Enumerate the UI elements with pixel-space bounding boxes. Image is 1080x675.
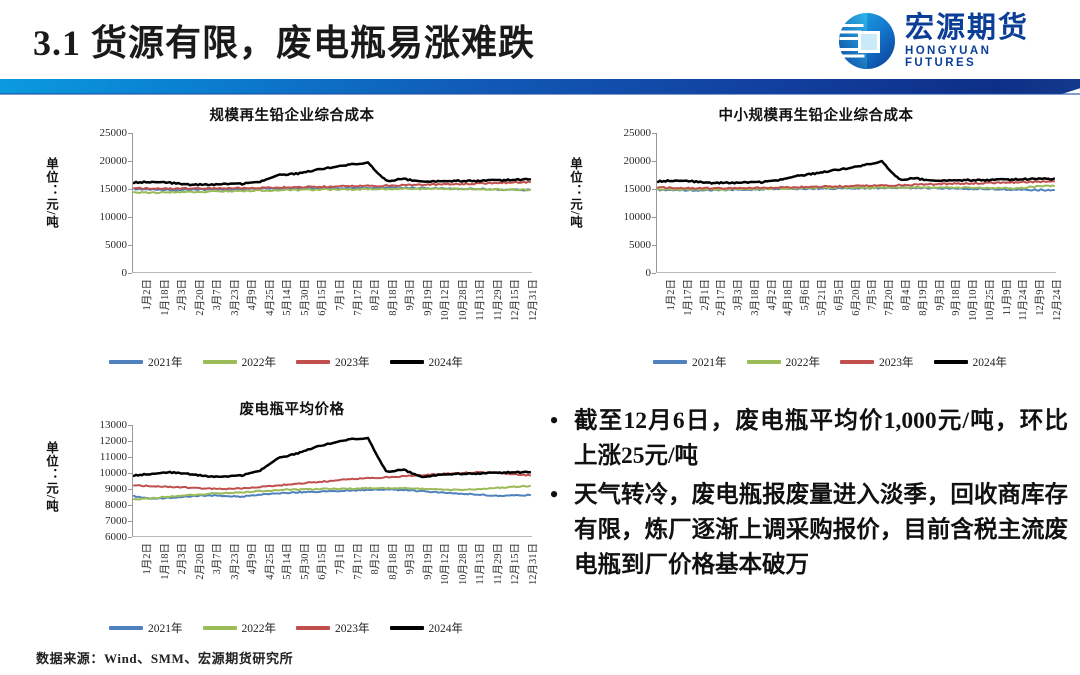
- chart-legend: 2021年2022年2023年2024年: [36, 620, 536, 636]
- bullet-dot-icon: •: [548, 404, 560, 474]
- yaxis-tick-label: 8000: [36, 499, 132, 511]
- xaxis-tick-label: 10月28日: [455, 543, 470, 585]
- legend-item[interactable]: 2024年: [934, 354, 1008, 370]
- yaxis-tick-label: 5000: [560, 239, 656, 251]
- yaxis-tick-label: 10000: [36, 467, 132, 479]
- xaxis-tick-label: 8月2日: [367, 543, 382, 575]
- logo-text: 宏源期货 HONGYUAN FUTURES: [905, 13, 1066, 69]
- xaxis-tick-label: 7月20日: [881, 279, 896, 316]
- page-title: 3.1 货源有限，废电瓶易涨难跌: [33, 14, 535, 66]
- yaxis-tick-label: 12000: [36, 435, 132, 447]
- legend-label: 2021年: [148, 620, 183, 636]
- legend-label: 2022年: [786, 354, 821, 370]
- xaxis-tick-label: 5月30日: [297, 543, 312, 580]
- chart-plot-area: [132, 133, 532, 273]
- legend-label: 2023年: [335, 354, 370, 370]
- xaxis-tick-label: 4月18日: [780, 279, 795, 316]
- legend-label: 2021年: [148, 354, 183, 370]
- yaxis-tick-label: 10000: [560, 211, 656, 223]
- yaxis-tick-label: 5000: [36, 239, 132, 251]
- chart-title: 废电瓶平均价格: [36, 398, 548, 419]
- bullet-text: 天气转冷，废电瓶报废量进入淡季，回收商库存有限，炼厂逐渐上调采购报价，目前含税主…: [574, 478, 1068, 583]
- chart-yaxis-ticks: 0500010000150002000025000: [560, 133, 656, 273]
- xaxis-tick-label: 1月2日: [139, 279, 154, 311]
- yaxis-tick-label: 20000: [560, 155, 656, 167]
- xaxis-tick-label: 3月7日: [209, 543, 224, 575]
- xaxis-tick-label: 3月3日: [730, 279, 745, 311]
- xaxis-tick-label: 4月2日: [764, 279, 779, 311]
- xaxis-tick-label: 7月1日: [332, 279, 347, 311]
- series-line-2024年: [658, 161, 1054, 184]
- yaxis-tick-label: 15000: [36, 183, 132, 195]
- yaxis-tick-label: 10000: [36, 211, 132, 223]
- xaxis-tick-label: 1月18日: [157, 543, 172, 580]
- xaxis-tick-label: 5月6日: [797, 279, 812, 311]
- xaxis-tick-label: 8月19日: [915, 279, 930, 316]
- xaxis-tick-label: 11月29日: [490, 279, 505, 321]
- logo-name-en: HONGYUAN FUTURES: [905, 45, 1066, 69]
- legend-item[interactable]: 2021年: [109, 620, 183, 636]
- legend-swatch-icon: [203, 360, 237, 363]
- yaxis-tick-label: 7000: [36, 515, 132, 527]
- xaxis-tick-label: 9月3日: [932, 279, 947, 311]
- xaxis-tick-label: 9月3日: [402, 543, 417, 575]
- yaxis-tick-label: 0: [36, 267, 132, 279]
- legend-item[interactable]: 2024年: [390, 354, 464, 370]
- bullet-text: 截至12月6日，废电瓶平均价1,000元/吨，环比上涨25元/吨: [574, 404, 1068, 474]
- yaxis-tick-label: 20000: [36, 155, 132, 167]
- xaxis-tick-label: 7月1日: [332, 543, 347, 575]
- legend-item[interactable]: 2022年: [203, 620, 277, 636]
- xaxis-tick-label: 3月7日: [209, 279, 224, 311]
- slide-header: 3.1 货源有限，废电瓶易涨难跌: [0, 0, 1080, 96]
- xaxis-tick-label: 10月28日: [455, 279, 470, 321]
- logo-name-cn: 宏源期货: [905, 13, 1066, 43]
- chart-xaxis-ticks: 1月2日1月18日2月3日2月20日3月7日3月23日4月9日4月25日5月14…: [132, 279, 532, 359]
- xaxis-tick-label: 3月18日: [747, 279, 762, 316]
- yaxis-tick-label: 13000: [36, 419, 132, 431]
- legend-item[interactable]: 2022年: [203, 354, 277, 370]
- legend-label: 2024年: [973, 354, 1008, 370]
- xaxis-tick-label: 3月23日: [227, 543, 242, 580]
- xaxis-tick-label: 2月20日: [192, 279, 207, 316]
- legend-item[interactable]: 2023年: [840, 354, 914, 370]
- series-line-2024年: [134, 438, 530, 477]
- chart-title: 规模再生铅企业综合成本: [36, 104, 548, 125]
- xaxis-tick-label: 2月3日: [174, 543, 189, 575]
- yaxis-tick-label: 15000: [560, 183, 656, 195]
- xaxis-tick-label: 9月3日: [402, 279, 417, 311]
- xaxis-tick-label: 12月31日: [525, 279, 540, 321]
- chart-legend: 2021年2022年2023年2024年: [600, 354, 1060, 370]
- xaxis-tick-label: 11月9日: [999, 279, 1014, 315]
- chart-yaxis-ticks: 0500010000150002000025000: [36, 133, 132, 273]
- xaxis-tick-label: 10月12日: [437, 279, 452, 321]
- legend-label: 2023年: [335, 620, 370, 636]
- chart-scrap-battery-average-price: 废电瓶平均价格 单位：元/吨 6000700080009000100001100…: [36, 398, 548, 655]
- series-line-2021年: [134, 489, 530, 499]
- xaxis-tick-label: 4月9日: [244, 279, 259, 311]
- yaxis-tick-label: 11000: [36, 451, 132, 463]
- xaxis-tick-label: 5月14日: [279, 543, 294, 580]
- chart-title: 中小规模再生铅企业综合成本: [560, 104, 1072, 125]
- xaxis-tick-label: 12月31日: [525, 543, 540, 585]
- chart-xaxis-ticks: 1月2日1月17日2月1日2月17日3月3日3月18日4月2日4月18日5月6日…: [656, 279, 1056, 359]
- xaxis-tick-label: 2月1日: [697, 279, 712, 311]
- xaxis-tick-label: 12月15日: [507, 279, 522, 321]
- legend-item[interactable]: 2021年: [653, 354, 727, 370]
- xaxis-tick-label: 1月2日: [663, 279, 678, 311]
- legend-swatch-icon: [747, 360, 781, 363]
- yaxis-tick-label: 25000: [560, 127, 656, 139]
- xaxis-tick-label: 3月23日: [227, 279, 242, 316]
- chart-regular-scale-recycled-lead-cost: 规模再生铅企业综合成本 单位：元/吨 050001000015000200002…: [36, 104, 548, 373]
- xaxis-tick-label: 7月5日: [864, 279, 879, 311]
- xaxis-tick-label: 5月14日: [279, 279, 294, 316]
- yaxis-tick-label: 6000: [36, 531, 132, 543]
- legend-item[interactable]: 2024年: [390, 620, 464, 636]
- header-accent-bar: [0, 79, 1080, 94]
- xaxis-tick-label: 10月10日: [965, 279, 980, 321]
- legend-item[interactable]: 2021年: [109, 354, 183, 370]
- list-item: • 天气转冷，废电瓶报废量进入淡季，回收商库存有限，炼厂逐渐上调采购报价，目前含…: [548, 478, 1068, 583]
- chart-plot-area: [656, 133, 1056, 273]
- legend-swatch-icon: [296, 626, 330, 629]
- xaxis-tick-label: 2月17日: [713, 279, 728, 316]
- xaxis-tick-label: 5月30日: [297, 279, 312, 316]
- legend-label: 2024年: [429, 354, 464, 370]
- legend-label: 2024年: [429, 620, 464, 636]
- xaxis-tick-label: 2月3日: [174, 279, 189, 311]
- header-accent-bar-edge: [0, 93, 1080, 95]
- legend-item[interactable]: 2023年: [296, 620, 370, 636]
- xaxis-tick-label: 6月20日: [848, 279, 863, 316]
- legend-swatch-icon: [109, 626, 143, 629]
- xaxis-tick-label: 11月13日: [472, 279, 487, 321]
- xaxis-tick-label: 9月19日: [420, 543, 435, 580]
- xaxis-tick-label: 8月2日: [367, 279, 382, 311]
- legend-swatch-icon: [109, 360, 143, 363]
- xaxis-tick-label: 7月17日: [350, 543, 365, 580]
- list-item: • 截至12月6日，废电瓶平均价1,000元/吨，环比上涨25元/吨: [548, 404, 1068, 474]
- xaxis-tick-label: 9月19日: [420, 279, 435, 316]
- yaxis-tick-label: 25000: [36, 127, 132, 139]
- xaxis-tick-label: 1月18日: [157, 279, 172, 316]
- source-note: 数据来源：Wind、SMM、宏源期货研究所: [36, 648, 293, 667]
- xaxis-tick-label: 2月20日: [192, 543, 207, 580]
- chart-yaxis-ticks: 600070008000900010000110001200013000: [36, 425, 132, 537]
- xaxis-tick-label: 11月29日: [490, 543, 505, 585]
- xaxis-tick-label: 4月9日: [244, 543, 259, 575]
- legend-item[interactable]: 2023年: [296, 354, 370, 370]
- legend-swatch-icon: [840, 360, 874, 363]
- xaxis-tick-label: 10月12日: [437, 543, 452, 585]
- xaxis-tick-label: 1月17日: [680, 279, 695, 316]
- legend-label: 2023年: [879, 354, 914, 370]
- legend-swatch-icon: [203, 626, 237, 629]
- yaxis-tick-label: 9000: [36, 483, 132, 495]
- legend-item[interactable]: 2022年: [747, 354, 821, 370]
- chart-plot-area: [132, 425, 532, 537]
- chart-legend: 2021年2022年2023年2024年: [36, 354, 536, 370]
- xaxis-tick-label: 12月9日: [1032, 279, 1047, 316]
- chart-xaxis-ticks: 1月2日1月18日2月3日2月20日3月7日3月23日4月9日4月25日5月14…: [132, 543, 532, 623]
- xaxis-tick-label: 12月15日: [507, 543, 522, 585]
- legend-swatch-icon: [390, 626, 424, 630]
- xaxis-tick-label: 6月15日: [314, 279, 329, 316]
- company-logo: 宏源期货 HONGYUAN FUTURES: [838, 10, 1066, 72]
- legend-swatch-icon: [390, 360, 424, 364]
- xaxis-tick-label: 7月17日: [350, 279, 365, 316]
- xaxis-tick-label: 8月18日: [385, 279, 400, 316]
- yaxis-tick-label: 0: [560, 267, 656, 279]
- xaxis-tick-label: 1月2日: [139, 543, 154, 575]
- xaxis-tick-label: 6月15日: [314, 543, 329, 580]
- bullet-list: • 截至12月6日，废电瓶平均价1,000元/吨，环比上涨25元/吨 • 天气转…: [548, 404, 1068, 587]
- xaxis-tick-label: 8月4日: [898, 279, 913, 311]
- xaxis-tick-label: 8月18日: [385, 543, 400, 580]
- legend-label: 2021年: [692, 354, 727, 370]
- xaxis-tick-label: 10月25日: [982, 279, 997, 321]
- xaxis-tick-label: 11月24日: [1015, 279, 1030, 321]
- bullet-dot-icon: •: [548, 478, 560, 583]
- legend-label: 2022年: [242, 354, 277, 370]
- series-line-2024年: [134, 162, 530, 185]
- legend-swatch-icon: [653, 360, 687, 363]
- xaxis-tick-label: 4月25日: [262, 543, 277, 580]
- xaxis-tick-label: 4月25日: [262, 279, 277, 316]
- xaxis-tick-label: 11月13日: [472, 543, 487, 585]
- legend-label: 2022年: [242, 620, 277, 636]
- xaxis-tick-label: 12月24日: [1049, 279, 1064, 321]
- xaxis-tick-label: 5月21日: [814, 279, 829, 316]
- legend-swatch-icon: [296, 360, 330, 363]
- legend-swatch-icon: [934, 360, 968, 364]
- xaxis-tick-label: 9月18日: [948, 279, 963, 316]
- xaxis-tick-label: 6月5日: [831, 279, 846, 311]
- hongyuan-circle-square-logo-icon: [838, 12, 896, 70]
- chart-small-medium-scale-recycled-lead-cost: 中小规模再生铅企业综合成本 单位：元/吨 0500010000150002000…: [560, 104, 1072, 373]
